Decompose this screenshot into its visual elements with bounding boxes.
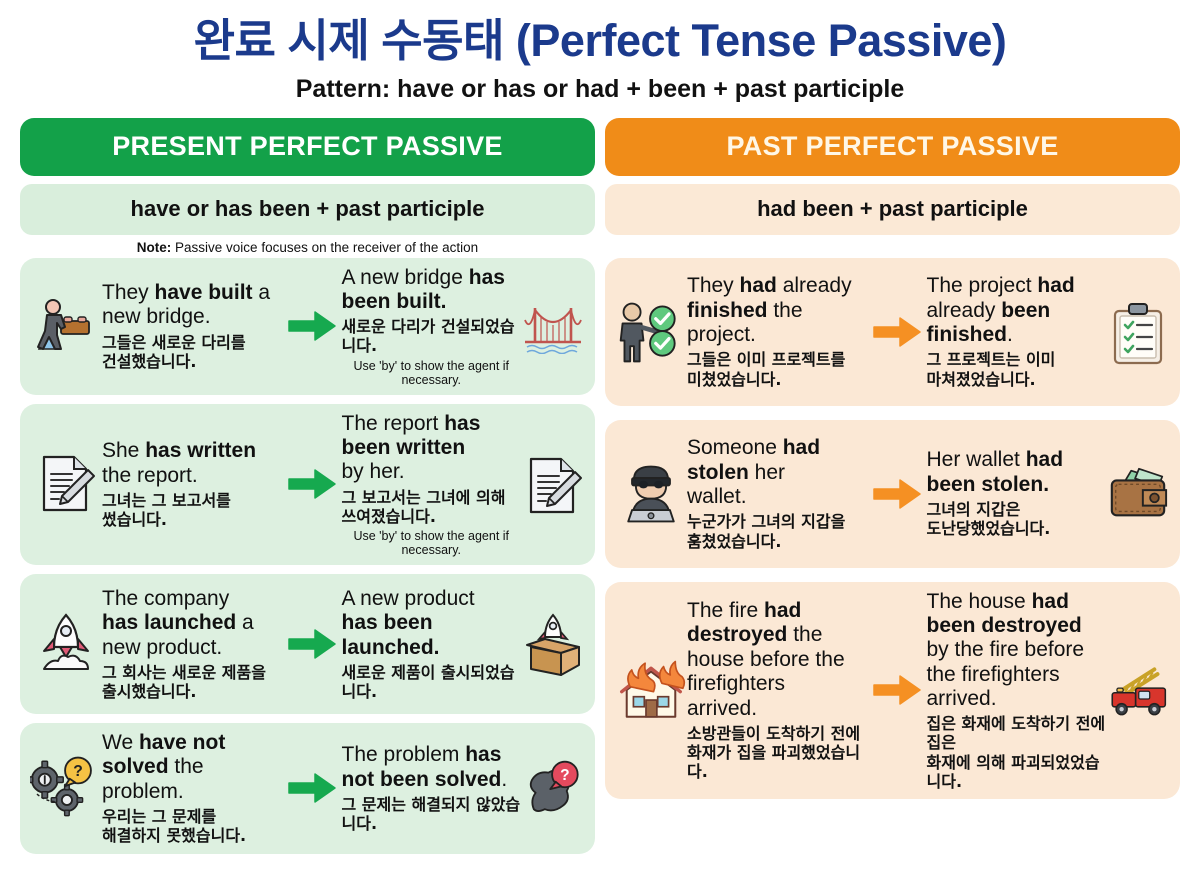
active-sentence-en: The companyhas launched a new product.: [102, 587, 282, 660]
speech-bubble-question-icon: ?: [521, 753, 585, 823]
active-sentence-ko: 소방관들이 도착하기 전에화재가 집을 파괴했었습니다.: [687, 724, 867, 782]
passive-sentence-ko: 그 프로젝트는 이미마쳐졌었습니다.: [927, 350, 1107, 388]
active-sentence-ko: 그들은 이미 프로젝트를미쳤었습니다.: [687, 350, 867, 388]
header: 완료 시제 수동태 (Perfect Tense Passive) Patter…: [0, 0, 1200, 104]
document-with-pencil-icon: [30, 452, 102, 516]
passive-sentence-ko: 그 문제는 해결되지 않았습니다.: [342, 795, 522, 833]
passive-sentence-block: The project hadalready beenfinished.그 프로…: [925, 274, 1107, 388]
example-card: She has written the report.그녀는 그 보고서를썼습니…: [20, 404, 595, 565]
passive-sentence-ko: 그 보고서는 그녀에 의해쓰여졌습니다.: [342, 488, 522, 526]
orange-arrow-icon: [869, 477, 925, 511]
banner-past-perfect-passive: PAST PERFECT PASSIVE: [605, 118, 1180, 176]
passive-sentence-ko: 그녀의 지갑은도난당했었습니다.: [927, 500, 1107, 538]
passive-sentence-en: Her wallet hadbeen stolen.: [927, 448, 1107, 497]
active-sentence-block: She has written the report.그녀는 그 보고서를썼습니…: [102, 439, 284, 529]
cards-present-perfect-passive: They have built a new bridge.그들은 새로운 다리를…: [20, 258, 595, 854]
column-past-perfect-passive: PAST PERFECT PASSIVEhad been + past part…: [605, 118, 1180, 854]
columns-container: PRESENT PERFECT PASSIVEhave or has been …: [0, 104, 1200, 854]
passive-sentence-en: A new bridge has been built.: [342, 266, 522, 315]
fire-truck-icon: [1106, 655, 1170, 725]
example-card: The companyhas launched a new product.그 …: [20, 574, 595, 714]
example-card: They had alreadyfinished theproject.그들은 …: [605, 258, 1180, 406]
passive-sentence-en: The problem hasnot been solved.: [342, 743, 522, 792]
active-sentence-block: The fire haddestroyed thehouse before th…: [687, 599, 869, 781]
passive-sentence-ko: 집은 화재에 도착하기 전에 집은화재에 의해 파괴되었었습니다.: [927, 714, 1107, 791]
rocket-in-box-icon: [521, 609, 585, 679]
active-sentence-en: She has written the report.: [102, 439, 282, 488]
active-sentence-block: Someone hadstolen herwallet.누군가가 그녀의 지갑을…: [687, 436, 869, 550]
worker-carrying-bricks-icon: [30, 291, 102, 361]
passive-sentence-block: A new producthas beenlaunched.새로운 제품이 출시…: [340, 587, 522, 701]
passive-sentence-en: A new producthas beenlaunched.: [342, 587, 522, 660]
agent-hint: Use 'by' to show the agent if necessary.: [342, 529, 522, 557]
agent-hint: Use 'by' to show the agent if necessary.: [342, 359, 522, 387]
passive-sentence-en: The house hadbeen destroyedby the fire b…: [927, 590, 1107, 712]
banner-present-perfect-passive: PRESENT PERFECT PASSIVE: [20, 118, 595, 176]
active-sentence-ko: 그녀는 그 보고서를썼습니다.: [102, 491, 282, 529]
active-sentence-en: They had alreadyfinished theproject.: [687, 274, 867, 347]
passive-sentence-ko: 새로운 다리가 건설되었습니다.: [342, 317, 522, 355]
clipboard-checklist-icon: [1106, 297, 1170, 367]
orange-arrow-icon: [869, 315, 925, 349]
hacker-with-laptop-icon: [615, 459, 687, 529]
active-sentence-en: Someone hadstolen herwallet.: [687, 436, 867, 509]
document-with-pencil-icon: [521, 450, 585, 518]
formula-past-perfect-passive: had been + past participle: [605, 184, 1180, 235]
green-arrow-icon: [284, 467, 340, 501]
svg-text:?: ?: [73, 763, 83, 780]
active-sentence-block: They had alreadyfinished theproject.그들은 …: [687, 274, 869, 388]
formula-present-perfect-passive: have or has been + past participle: [20, 184, 595, 235]
infographic-page: 완료 시제 수동태 (Perfect Tense Passive) Patter…: [0, 0, 1200, 896]
rocket-launch-icon: [30, 611, 102, 677]
passive-sentence-en: The report hasbeen writtenby her.: [342, 412, 522, 485]
active-sentence-en: We have notsolved the problem.: [102, 731, 282, 804]
passive-sentence-en: The project hadalready beenfinished.: [927, 274, 1107, 347]
note-text: Passive voice focuses on the receiver of…: [171, 240, 478, 255]
column-present-perfect-passive: PRESENT PERFECT PASSIVEhave or has been …: [20, 118, 595, 854]
passive-sentence-ko: 새로운 제품이 출시되었습니다.: [342, 663, 522, 701]
passive-sentence-block: A new bridge has been built.새로운 다리가 건설되었…: [340, 266, 522, 387]
wallet-with-money-icon: [1106, 466, 1170, 522]
suspension-bridge-icon: [521, 298, 585, 354]
active-sentence-ko: 그 회사는 새로운 제품을출시했습니다.: [102, 663, 282, 701]
active-sentence-block: The companyhas launched a new product.그 …: [102, 587, 284, 701]
active-sentence-ko: 우리는 그 문제를해결하지 못했습니다.: [102, 807, 282, 845]
cards-past-perfect-passive: They had alreadyfinished theproject.그들은 …: [605, 258, 1180, 800]
passive-sentence-block: The house hadbeen destroyedby the fire b…: [925, 590, 1107, 792]
example-card: They have built a new bridge.그들은 새로운 다리를…: [20, 258, 595, 395]
svg-text:?: ?: [560, 767, 570, 784]
green-arrow-icon: [284, 771, 340, 805]
active-sentence-block: They have built a new bridge.그들은 새로운 다리를…: [102, 281, 284, 371]
passive-sentence-block: The problem hasnot been solved.그 문제는 해결되…: [340, 743, 522, 833]
active-sentence-en: They have built a new bridge.: [102, 281, 282, 330]
example-card: The fire haddestroyed thehouse before th…: [605, 582, 1180, 800]
note-label: Note:: [137, 240, 172, 255]
orange-arrow-icon: [869, 673, 925, 707]
active-sentence-block: We have notsolved the problem.우리는 그 문제를해…: [102, 731, 284, 845]
pattern-subtitle: Pattern: have or has or had + been + pas…: [0, 74, 1200, 104]
person-with-checkmarks-icon: [615, 297, 687, 367]
burning-house-icon: [615, 652, 687, 728]
example-card: ? We have notsolved the problem.우리는 그 문제…: [20, 723, 595, 853]
gears-question-icon: ?: [30, 753, 102, 823]
active-sentence-en: The fire haddestroyed thehouse before th…: [687, 599, 867, 721]
passive-sentence-block: The report hasbeen writtenby her.그 보고서는 …: [340, 412, 522, 557]
note-present-perfect-passive: Note: Passive voice focuses on the recei…: [20, 235, 595, 258]
example-card: Someone hadstolen herwallet.누군가가 그녀의 지갑을…: [605, 420, 1180, 568]
active-sentence-ko: 누군가가 그녀의 지갑을훔쳤었습니다.: [687, 512, 867, 550]
active-sentence-ko: 그들은 새로운 다리를건설했습니다.: [102, 333, 282, 371]
green-arrow-icon: [284, 309, 340, 343]
green-arrow-icon: [284, 627, 340, 661]
passive-sentence-block: Her wallet hadbeen stolen.그녀의 지갑은도난당했었습니…: [925, 448, 1107, 538]
page-title: 완료 시제 수동태 (Perfect Tense Passive): [0, 16, 1200, 66]
